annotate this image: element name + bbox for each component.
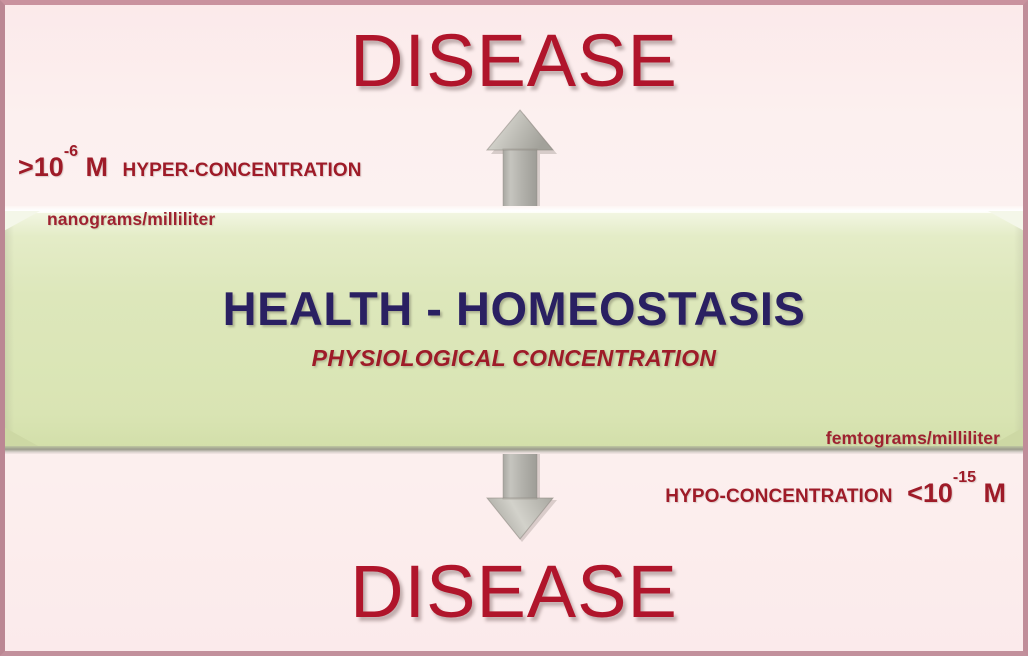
physiological-concentration-subtitle: PHYSIOLOGICAL CONCENTRATION <box>0 345 1028 372</box>
hyper-threshold: >10-6 M <box>18 152 108 182</box>
hyper-threshold-exponent: -6 <box>64 143 78 160</box>
figure-canvas: DISEASE >10-6 M HYPER-CONCENTRATION <box>0 0 1028 656</box>
hyper-threshold-base: >10 <box>18 152 64 182</box>
hypo-threshold: <10-15 M <box>907 478 1006 508</box>
band-bevel-bottom-left <box>0 425 40 447</box>
hypo-threshold-base: <10 <box>907 478 953 508</box>
hypo-concentration-row: HYPO-CONCENTRATION <10-15 M <box>665 478 1006 509</box>
band-bevel-top-right <box>988 211 1028 233</box>
nanograms-unit-label: nanograms/milliliter <box>47 209 215 230</box>
health-homeostasis-title: HEALTH - HOMEOSTASIS <box>0 281 1028 336</box>
hypo-concentration-label: HYPO-CONCENTRATION <box>665 486 892 507</box>
hypo-threshold-unit: M <box>976 478 1006 508</box>
femtograms-unit-label: femtograms/milliliter <box>826 428 1000 449</box>
arrow-up-icon <box>486 107 558 217</box>
disease-label-bottom: DISEASE <box>0 549 1028 634</box>
hyper-concentration-row: >10-6 M HYPER-CONCENTRATION <box>18 152 362 183</box>
disease-label-top: DISEASE <box>0 18 1028 103</box>
hyper-concentration-label: HYPER-CONCENTRATION <box>123 160 362 181</box>
hypo-threshold-exponent: -15 <box>953 469 976 486</box>
band-bevel-top-left <box>0 211 40 233</box>
hyper-threshold-unit: M <box>78 152 108 182</box>
